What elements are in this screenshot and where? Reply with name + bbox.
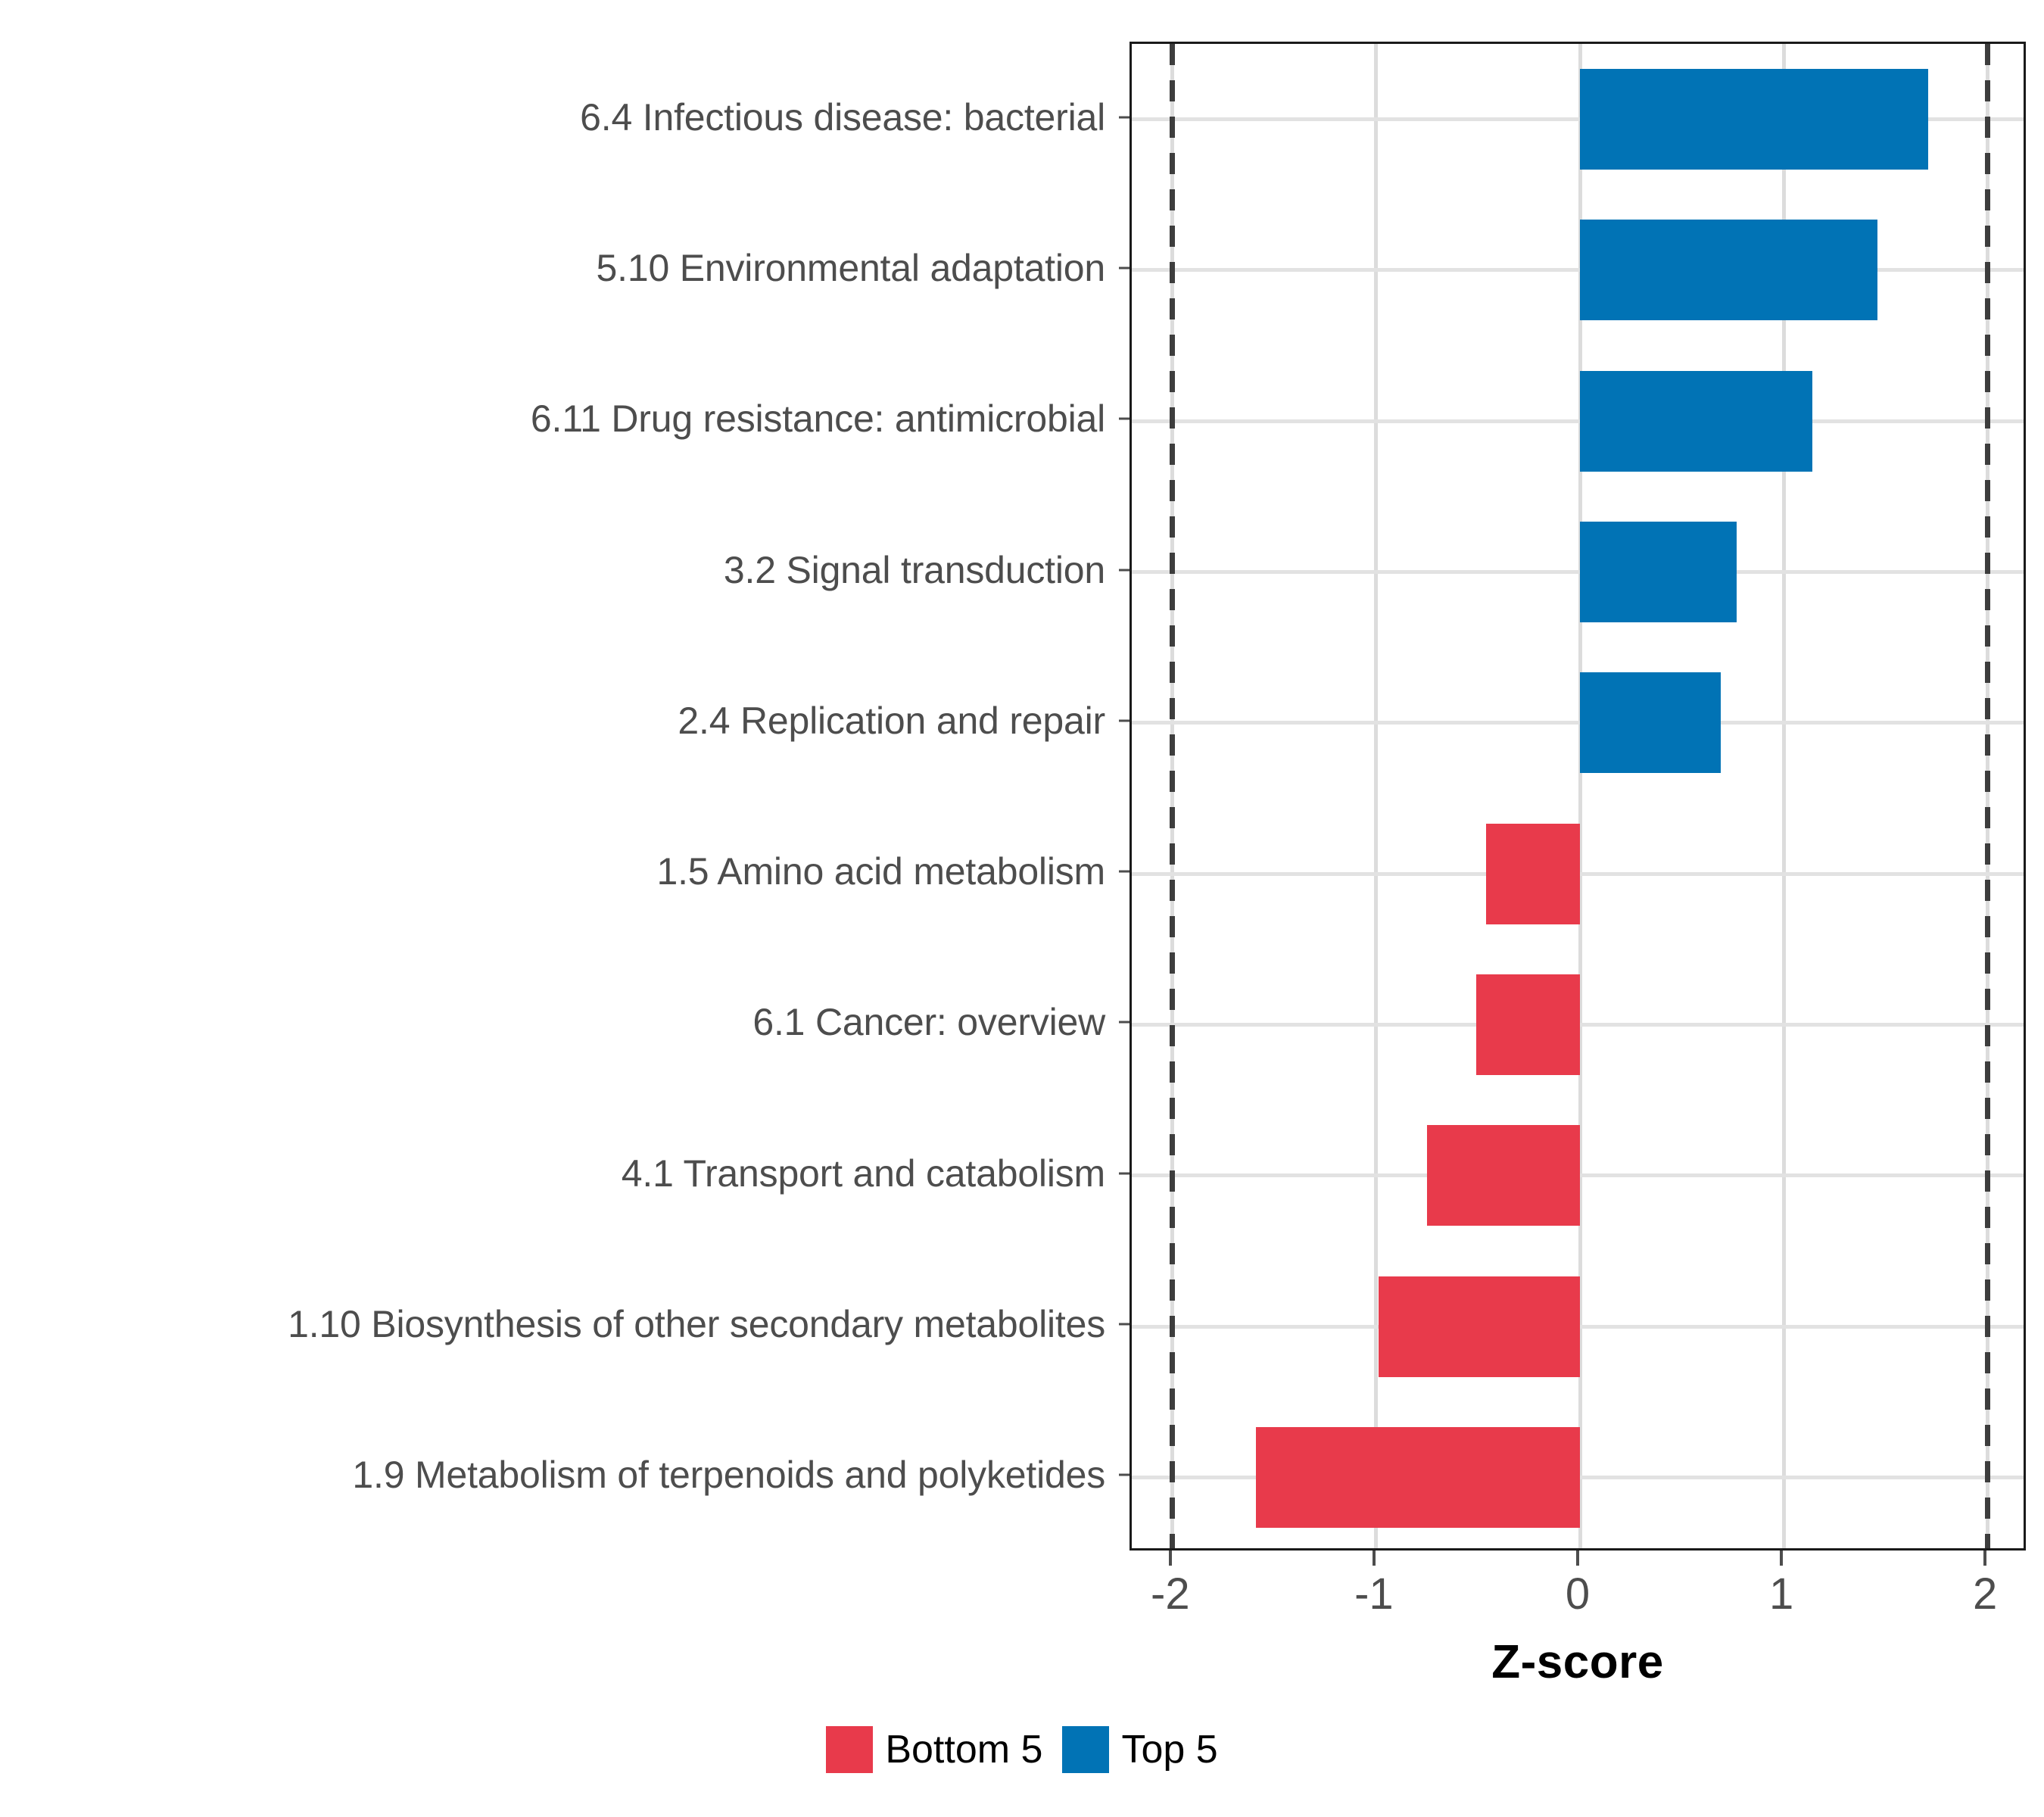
x-axis-tick-label: 2 [1973, 1569, 1997, 1619]
bar[interactable] [1256, 1427, 1580, 1528]
bar[interactable] [1427, 1125, 1580, 1226]
legend-label-bottom5: Bottom 5 [885, 1727, 1042, 1772]
y-axis-ticks [1119, 42, 1129, 1551]
bar[interactable] [1580, 220, 1877, 320]
legend-swatch-bottom5 [826, 1726, 873, 1773]
y-axis-label: 2.4 Replication and repair [678, 699, 1105, 743]
gridline-horizontal [1132, 268, 2024, 272]
bar[interactable] [1580, 371, 1812, 472]
y-axis-label-row: 4.1 Transport and catabolism [0, 1098, 1113, 1248]
y-axis-label: 6.1 Cancer: overview [752, 1000, 1105, 1044]
y-axis-label: 1.10 Biosynthesis of other secondary met… [288, 1302, 1105, 1346]
y-axis-label: 1.5 Amino acid metabolism [656, 849, 1105, 893]
x-axis-tick [1780, 1551, 1783, 1566]
y-axis-tick [1119, 1400, 1129, 1551]
legend-label-top5: Top 5 [1121, 1727, 1217, 1772]
x-axis-tick-label: -1 [1354, 1569, 1394, 1619]
x-axis-tick [1373, 1551, 1376, 1566]
x-axis-tick [1576, 1551, 1579, 1566]
y-axis-label-row: 3.2 Signal transduction [0, 494, 1113, 645]
y-axis-tick [1119, 796, 1129, 946]
x-axis-tick-label: 0 [1566, 1569, 1590, 1619]
y-axis-label-row: 1.9 Metabolism of terpenoids and polyket… [0, 1400, 1113, 1551]
y-axis-tick [1119, 192, 1129, 343]
y-axis-label-row: 6.11 Drug resistance: antimicrobial [0, 344, 1113, 494]
chart-legend: Bottom 5 Top 5 [0, 1726, 2044, 1773]
y-axis-tick [1119, 42, 1129, 192]
y-axis-tick [1119, 947, 1129, 1098]
y-axis-label: 5.10 Environmental adaptation [597, 246, 1105, 290]
y-axis-label-row: 2.4 Replication and repair [0, 645, 1113, 796]
reference-line [1170, 44, 1175, 1548]
bar[interactable] [1379, 1276, 1580, 1377]
gridline-horizontal [1132, 570, 2024, 574]
y-axis-label-row: 1.10 Biosynthesis of other secondary met… [0, 1248, 1113, 1399]
y-axis-tick [1119, 494, 1129, 645]
reference-line [1985, 44, 1990, 1548]
gridline-horizontal [1132, 419, 2024, 423]
y-axis-tick [1119, 1098, 1129, 1248]
legend-swatch-top5 [1062, 1726, 1109, 1773]
zscore-bar-chart: 6.4 Infectious disease: bacterial 5.10 E… [0, 0, 2044, 1817]
plot-panel [1129, 42, 2026, 1551]
gridline-horizontal [1132, 721, 2024, 725]
x-axis-tick [1169, 1551, 1172, 1566]
bar[interactable] [1580, 522, 1737, 622]
bar[interactable] [1486, 824, 1580, 924]
y-axis-label-row: 6.1 Cancer: overview [0, 947, 1113, 1098]
bar[interactable] [1476, 974, 1580, 1075]
y-axis-label-row: 6.4 Infectious disease: bacterial [0, 42, 1113, 192]
y-axis-label-row: 5.10 Environmental adaptation [0, 192, 1113, 343]
y-axis-label-row: 1.5 Amino acid metabolism [0, 796, 1113, 946]
legend-item-bottom5[interactable]: Bottom 5 [826, 1726, 1042, 1773]
y-axis-label: 6.4 Infectious disease: bacterial [580, 95, 1105, 139]
y-axis-tick [1119, 1248, 1129, 1399]
y-axis-label: 6.11 Drug resistance: antimicrobial [531, 397, 1105, 441]
x-axis-tick [1983, 1551, 1986, 1566]
x-axis-tick-label: 1 [1769, 1569, 1793, 1619]
y-axis-label: 4.1 Transport and catabolism [622, 1152, 1105, 1195]
y-axis-label: 1.9 Metabolism of terpenoids and polyket… [352, 1453, 1105, 1497]
bar[interactable] [1580, 672, 1721, 773]
y-axis-tick [1119, 645, 1129, 796]
y-axis-labels: 6.4 Infectious disease: bacterial 5.10 E… [0, 42, 1113, 1551]
y-axis-label: 3.2 Signal transduction [724, 548, 1105, 592]
x-axis-title: Z-score [1129, 1635, 2026, 1689]
bar[interactable] [1580, 69, 1928, 170]
x-axis-tick-label: -2 [1151, 1569, 1190, 1619]
legend-item-top5[interactable]: Top 5 [1062, 1726, 1217, 1773]
y-axis-tick [1119, 344, 1129, 494]
